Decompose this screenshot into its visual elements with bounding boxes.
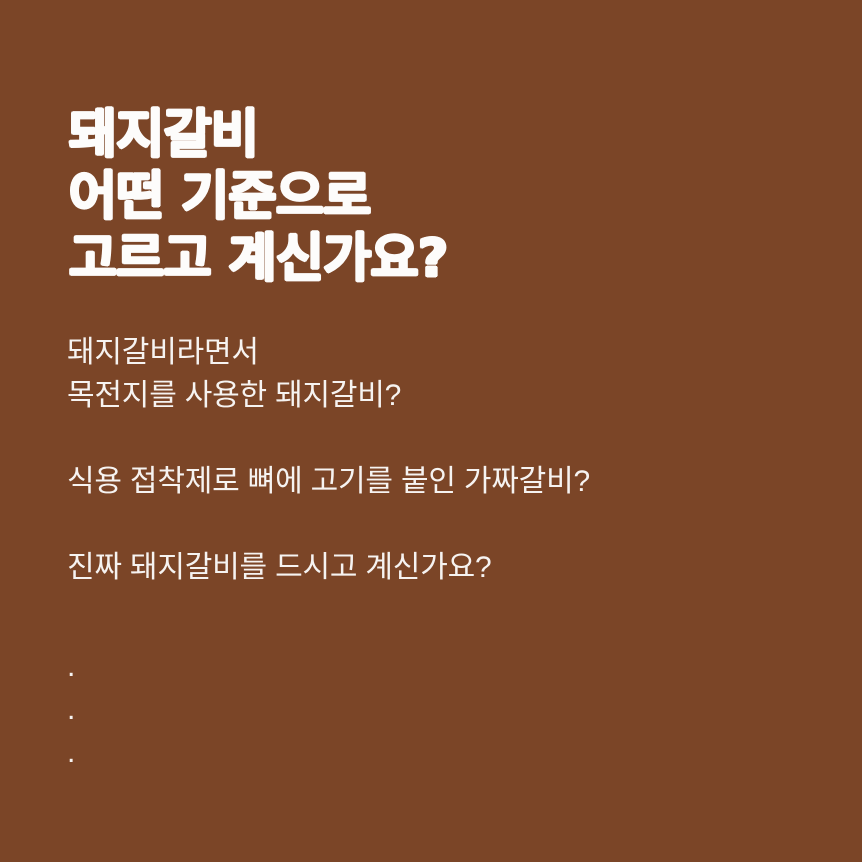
dot-line-3: . <box>67 731 367 774</box>
body-line-4: 진짜 돼지갈비를 드시고 계신가요? <box>67 546 827 589</box>
dot-line-2: . <box>67 688 367 731</box>
body-copy-block: 돼지갈비라면서 목전지를 사용한 돼지갈비? 식용 접착제로 뼈에 고기를 붙인… <box>67 331 827 589</box>
body-line-1: 돼지갈비라면서 <box>67 331 827 374</box>
body-line-2: 목전지를 사용한 돼지갈비? <box>67 374 827 417</box>
body-line-spacer-2 <box>67 503 827 546</box>
poster-canvas: 돼지갈비 어떤 기준으로 고르고 계신가요? 돼지갈비라면서 목전지를 사용한 … <box>0 0 862 862</box>
headline-line-1: 돼지갈비 <box>69 104 809 166</box>
body-line-3: 식용 접착제로 뼈에 고기를 붙인 가짜갈비? <box>67 460 827 503</box>
headline-line-3: 고르고 계신가요? <box>69 228 809 290</box>
trailing-dot-list: . . . <box>67 645 367 774</box>
headline-line-2: 어떤 기준으로 <box>69 166 809 228</box>
body-line-spacer-1 <box>67 417 827 460</box>
dot-line-1: . <box>67 645 367 688</box>
headline-block: 돼지갈비 어떤 기준으로 고르고 계신가요? <box>69 104 809 290</box>
